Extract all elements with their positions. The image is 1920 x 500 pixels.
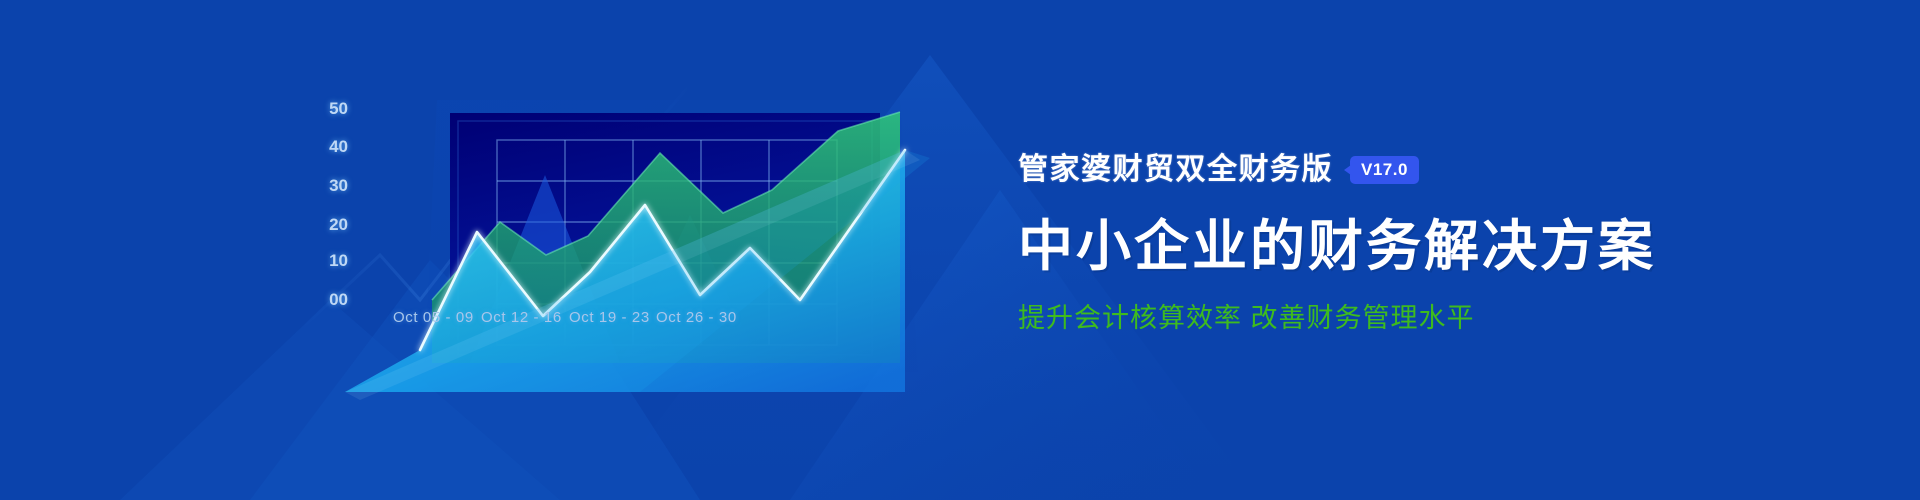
x-tick-oct-19-23: Oct 19 - 23 xyxy=(569,309,650,326)
y-tick-00: 00 xyxy=(314,290,348,310)
promo-banner: 50 40 30 20 10 00 Oct 05 - 09 Oct 12 - 1… xyxy=(0,0,1920,500)
version-badge: V17.0 xyxy=(1350,156,1419,184)
y-tick-10: 10 xyxy=(314,251,348,271)
brand-row: 管家婆财贸双全财务版 V17.0 xyxy=(1018,150,1838,190)
y-tick-50: 50 xyxy=(314,99,348,119)
version-badge-wrap: V17.0 xyxy=(1350,156,1419,184)
banner-copy: 管家婆财贸双全财务版 V17.0 中小企业的财务解决方案 提升会计核算效率 改善… xyxy=(1018,150,1838,370)
page-title: 中小企业的财务解决方案 xyxy=(1018,217,1838,276)
x-tick-oct-12-16: Oct 12 - 16 xyxy=(481,309,562,326)
y-tick-30: 30 xyxy=(314,176,348,196)
x-tick-oct-05-09: Oct 05 - 09 xyxy=(393,309,474,326)
x-tick-oct-26-30: Oct 26 - 30 xyxy=(656,309,737,326)
y-tick-40: 40 xyxy=(314,137,348,157)
y-tick-20: 20 xyxy=(314,215,348,235)
brand-name: 管家婆财贸双全财务版 xyxy=(1018,150,1333,190)
badge-tail-icon xyxy=(1344,165,1351,175)
page-subtitle: 提升会计核算效率 改善财务管理水平 xyxy=(1018,302,1838,334)
